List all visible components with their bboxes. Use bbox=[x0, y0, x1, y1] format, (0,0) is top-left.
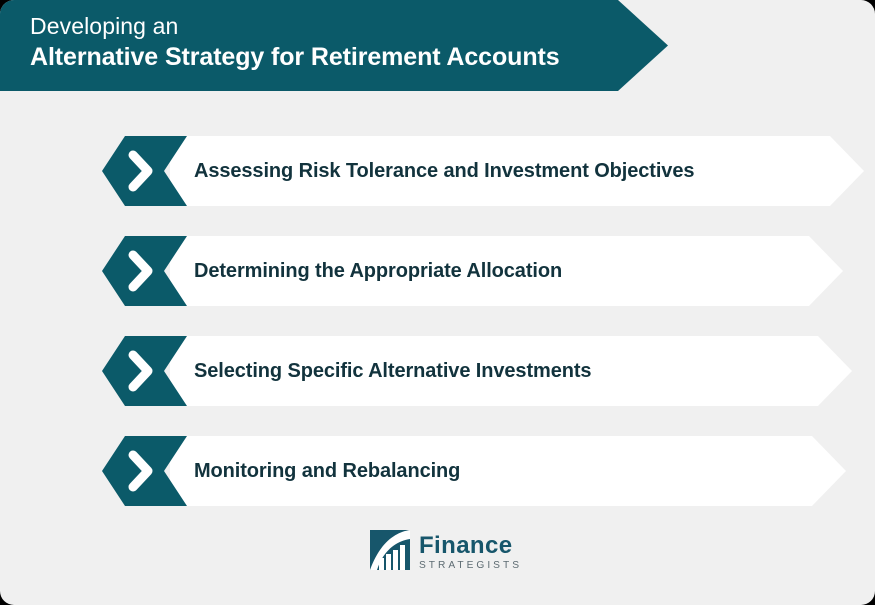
infographic-canvas: Developing an Alternative Strategy for R… bbox=[0, 0, 875, 605]
chevron-right-icon bbox=[102, 236, 187, 306]
finance-strategists-mark-icon bbox=[370, 530, 410, 575]
step-label: Monitoring and Rebalancing bbox=[194, 436, 460, 506]
step-row[interactable]: Monitoring and Rebalancing bbox=[102, 436, 846, 506]
page-title: Alternative Strategy for Retirement Acco… bbox=[30, 41, 630, 74]
chevron-right-icon bbox=[102, 336, 187, 406]
logo-secondary-word: STRATEGISTS bbox=[419, 559, 522, 572]
step-row[interactable]: Assessing Risk Tolerance and Investment … bbox=[102, 136, 864, 206]
logo-wordmark: Finance STRATEGISTS bbox=[419, 534, 522, 572]
chevron-right-icon bbox=[102, 436, 187, 506]
chevron-right-icon bbox=[102, 136, 187, 206]
step-label: Assessing Risk Tolerance and Investment … bbox=[194, 136, 694, 206]
brand-logo: Finance STRATEGISTS bbox=[370, 530, 506, 575]
step-row[interactable]: Selecting Specific Alternative Investmen… bbox=[102, 336, 852, 406]
header-subtitle: Developing an bbox=[30, 12, 630, 41]
header-text-block: Developing an Alternative Strategy for R… bbox=[30, 12, 630, 74]
step-label: Determining the Appropriate Allocation bbox=[194, 236, 562, 306]
step-label: Selecting Specific Alternative Investmen… bbox=[194, 336, 591, 406]
step-row[interactable]: Determining the Appropriate Allocation bbox=[102, 236, 843, 306]
logo-primary-word: Finance bbox=[419, 534, 522, 558]
